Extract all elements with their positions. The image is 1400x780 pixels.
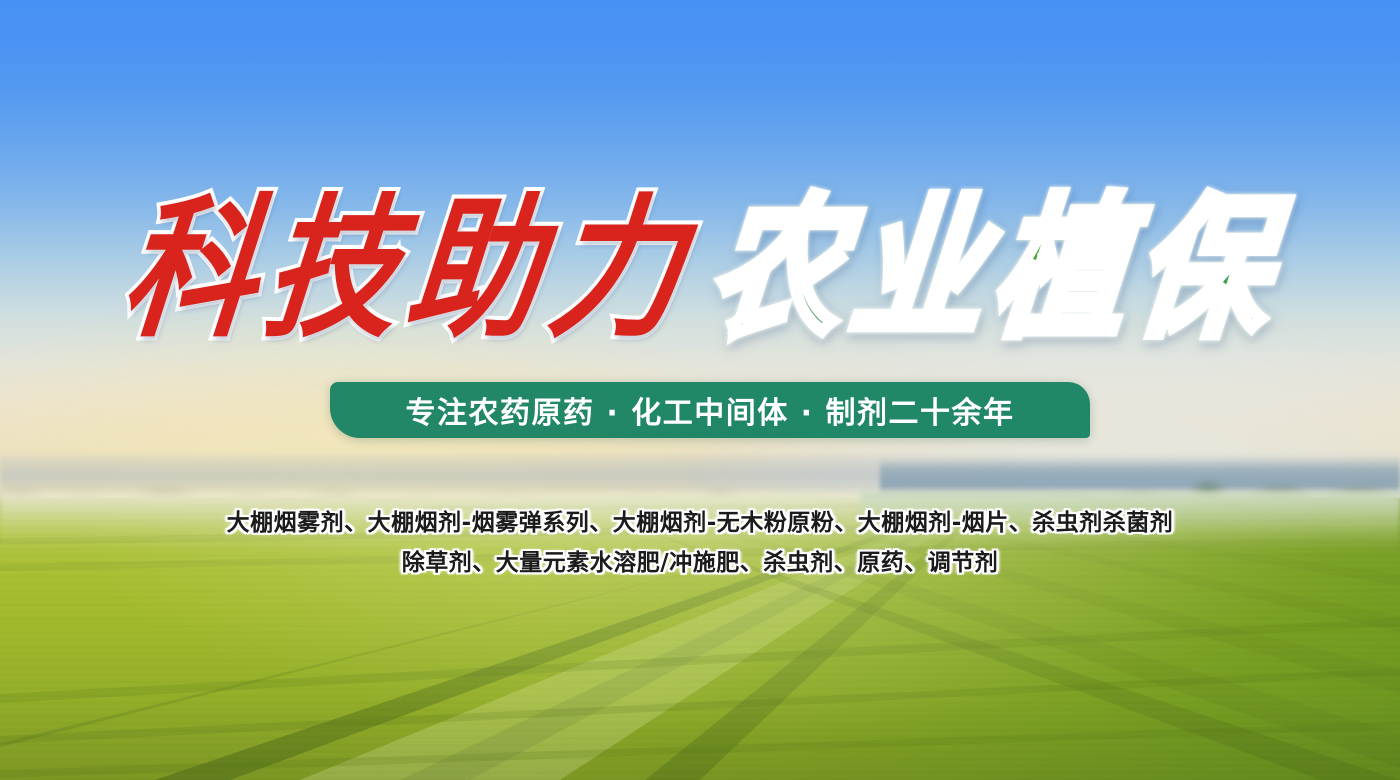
field-vignette [0,498,1400,780]
promo-banner: 科技助力农业植保 专注农药原药 · 化工中间体 · 制剂二十余年 大棚烟雾剂、大… [0,0,1400,780]
subtitle-badge: 专注农药原药 · 化工中间体 · 制剂二十余年 [330,382,1090,438]
subtitle-text: 专注农药原药 · 化工中间体 · 制剂二十余年 [405,388,1014,432]
